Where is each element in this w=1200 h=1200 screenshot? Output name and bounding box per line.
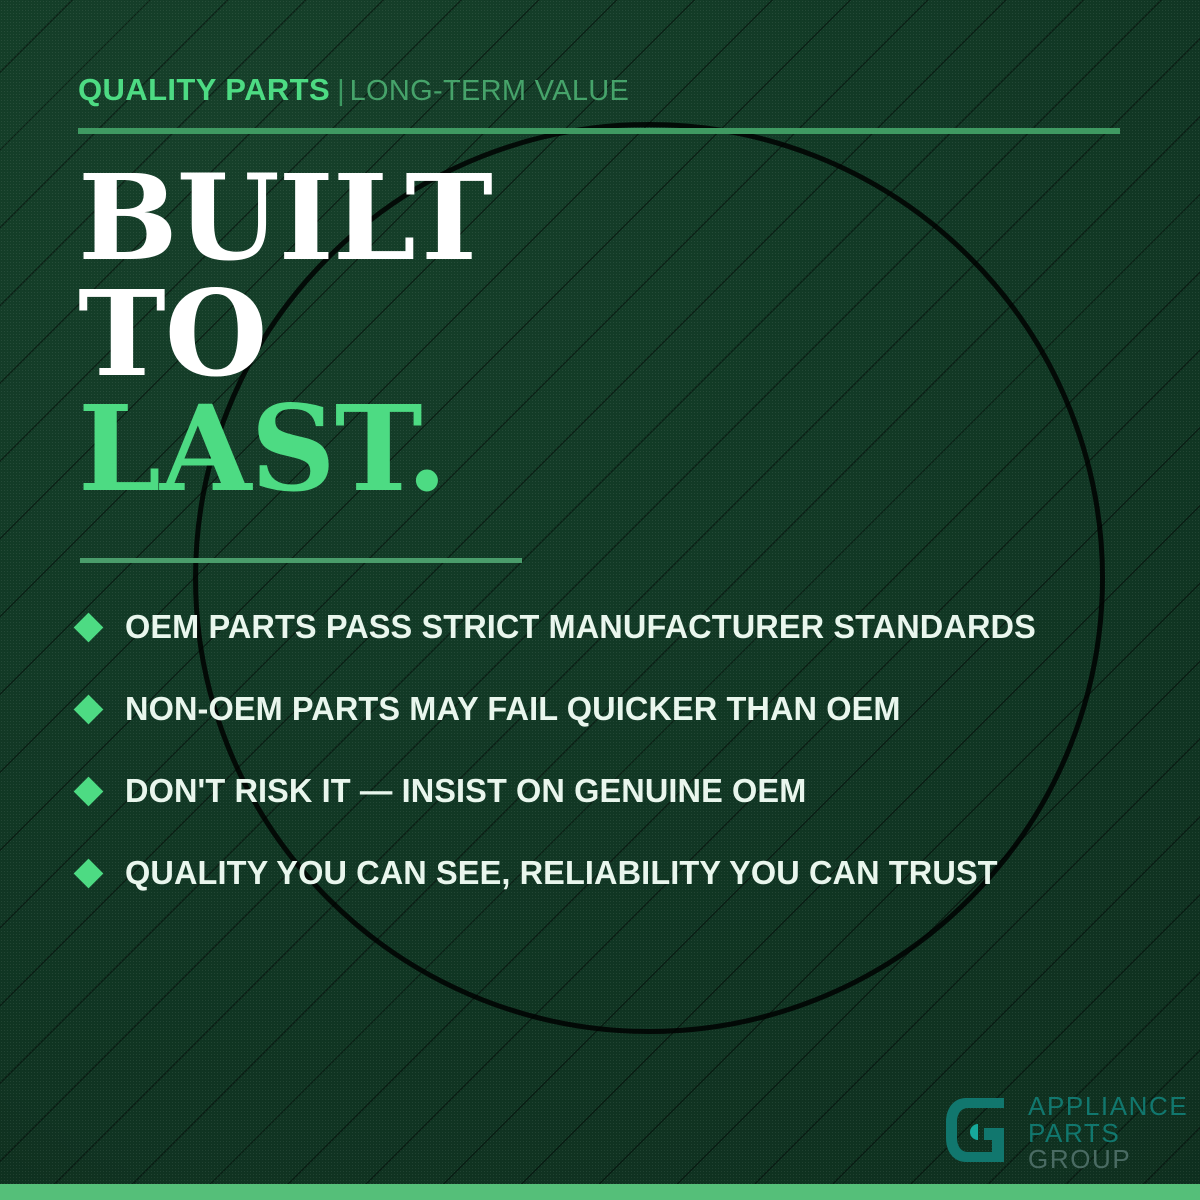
headline-line-2: TO [78,276,492,392]
diamond-bullet-icon [74,858,104,888]
brand-logo-wordmark: APPLIANCE PARTS GROUP [1028,1092,1188,1173]
list-item: QUALITY YOU CAN SEE, RELIABILITY YOU CAN… [78,832,1138,914]
benefit-list: OEM PARTS PASS STRICT MANUFACTURER STAND… [78,586,1138,914]
brand-logo: APPLIANCE PARTS GROUP [944,1092,1188,1173]
headline-line-1: BUILT [78,160,492,276]
list-item-label: DON'T RISK IT — INSIST ON GENUINE OEM [125,772,806,810]
headline-divider-rule [80,558,522,563]
list-item: NON-OEM PARTS MAY FAIL QUICKER THAN OEM [78,668,1138,750]
list-item-label: OEM PARTS PASS STRICT MANUFACTURER STAND… [125,608,1036,646]
promotional-poster: QUALITY PARTS|LONG-TERM VALUE BUILT TO L… [0,0,1200,1200]
poster-content: QUALITY PARTS|LONG-TERM VALUE BUILT TO L… [0,0,1200,1200]
eyebrow-primary-text: QUALITY PARTS [78,72,330,107]
g-monogram-icon [944,1094,1016,1166]
bottom-accent-bar [0,1184,1200,1200]
brand-line-2: PARTS [1028,1120,1188,1147]
header-divider-rule [78,128,1120,134]
list-item: OEM PARTS PASS STRICT MANUFACTURER STAND… [78,586,1138,668]
list-item-label: QUALITY YOU CAN SEE, RELIABILITY YOU CAN… [125,854,998,892]
brand-line-1: APPLIANCE [1028,1093,1188,1120]
diamond-bullet-icon [74,612,104,642]
eyebrow-separator: | [337,75,345,107]
list-item: DON'T RISK IT — INSIST ON GENUINE OEM [78,750,1138,832]
diamond-bullet-icon [74,776,104,806]
brand-line-3: GROUP [1028,1146,1188,1173]
list-item-label: NON-OEM PARTS MAY FAIL QUICKER THAN OEM [125,690,901,728]
page-title: BUILT TO LAST. [78,160,492,507]
diamond-bullet-icon [74,694,104,724]
headline-line-3: LAST. [78,391,492,507]
eyebrow-secondary-text: LONG-TERM VALUE [350,75,630,107]
eyebrow-heading: QUALITY PARTS|LONG-TERM VALUE [78,74,629,106]
